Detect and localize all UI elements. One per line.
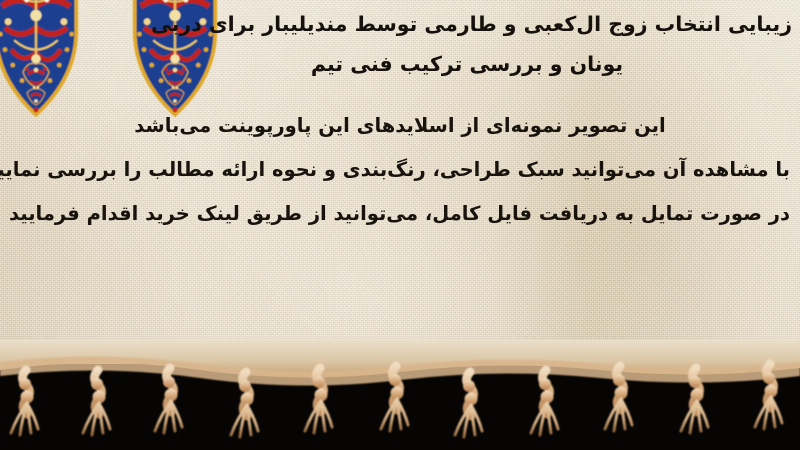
body-line-1: این تصویر نمونه‌ای از اسلایدهای این پاور… (10, 104, 790, 148)
presentation-slide: زیبایی انتخاب زوج ال‌کعبی و طارمی توسط م… (0, 0, 800, 450)
body-line-2: با مشاهده آن می‌توانید سبک طراحی، رنگ‌بن… (10, 148, 790, 192)
slide-body: این تصویر نمونه‌ای از اسلایدهای این پاور… (10, 104, 790, 236)
body-line-3: در صورت تمایل به دریافت فایل کامل، می‌تو… (10, 192, 790, 236)
title-line-1: زیبایی انتخاب زوج ال‌کعبی و طارمی توسط م… (182, 4, 792, 44)
carpet-fringe (0, 340, 800, 450)
slide-title: زیبایی انتخاب زوج ال‌کعبی و طارمی توسط م… (182, 4, 792, 84)
title-line-2: یونان و بررسی ترکیب فنی تیم (182, 44, 792, 84)
